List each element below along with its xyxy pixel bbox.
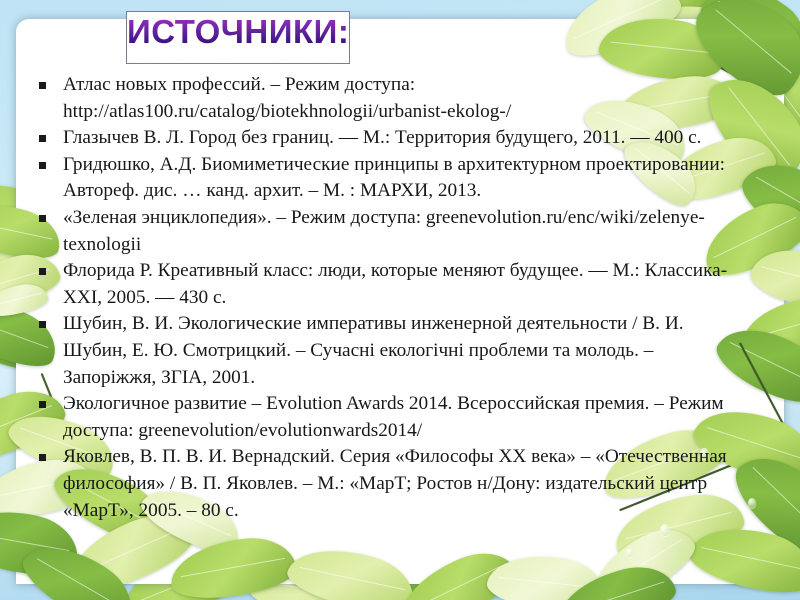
reference-text: Гридюшко, А.Д. Биомиметические принципы … — [63, 152, 736, 205]
bullet-square-icon — [39, 321, 46, 328]
bullet-square-icon — [39, 401, 46, 408]
slide-title-box: ИСТОЧНИКИ: ИСТОЧНИКИ: — [126, 11, 350, 64]
bullet-square-icon — [39, 82, 46, 89]
page-title-reflection: ИСТОЧНИКИ: — [127, 51, 349, 64]
list-item: Гридюшко, А.Д. Биомиметические принципы … — [36, 152, 736, 205]
reference-text: Шубин, В. И. Экологические императивы ин… — [63, 311, 736, 391]
list-item: «Зеленая энциклопедия». – Режим доступа:… — [36, 205, 736, 258]
list-item: Экологичное развитие – Evolution Awards … — [36, 391, 736, 444]
list-item: Флорида Р. Креативный класс: люди, котор… — [36, 258, 736, 311]
list-item: Яковлев, В. П. В. И. Вернадский. Серия «… — [36, 444, 736, 524]
list-item: Глазычев В. Л. Город без границ. — М.: Т… — [36, 125, 736, 152]
bullet-square-icon — [39, 162, 46, 169]
reference-text: Яковлев, В. П. В. И. Вернадский. Серия «… — [63, 444, 736, 524]
reference-text: Флорида Р. Креативный класс: люди, котор… — [63, 258, 736, 311]
bullet-square-icon — [39, 454, 46, 461]
reference-text: Атлас новых профессий. – Режим доступа: … — [63, 72, 736, 125]
bullet-square-icon — [39, 135, 46, 142]
list-item: Атлас новых профессий. – Режим доступа: … — [36, 72, 736, 125]
reference-text: «Зеленая энциклопедия». – Режим доступа:… — [63, 205, 736, 258]
reference-text: Экологичное развитие – Evolution Awards … — [63, 391, 736, 444]
bullet-square-icon — [39, 215, 46, 222]
presentation-slide: ИСТОЧНИКИ: ИСТОЧНИКИ: Атлас новых профес… — [0, 0, 800, 600]
reference-text: Глазычев В. Л. Город без границ. — М.: Т… — [63, 125, 736, 152]
references-list: Атлас новых профессий. – Режим доступа: … — [36, 72, 736, 524]
page-title: ИСТОЧНИКИ: — [127, 13, 349, 51]
list-item: Шубин, В. И. Экологические императивы ин… — [36, 311, 736, 391]
bullet-square-icon — [39, 268, 46, 275]
